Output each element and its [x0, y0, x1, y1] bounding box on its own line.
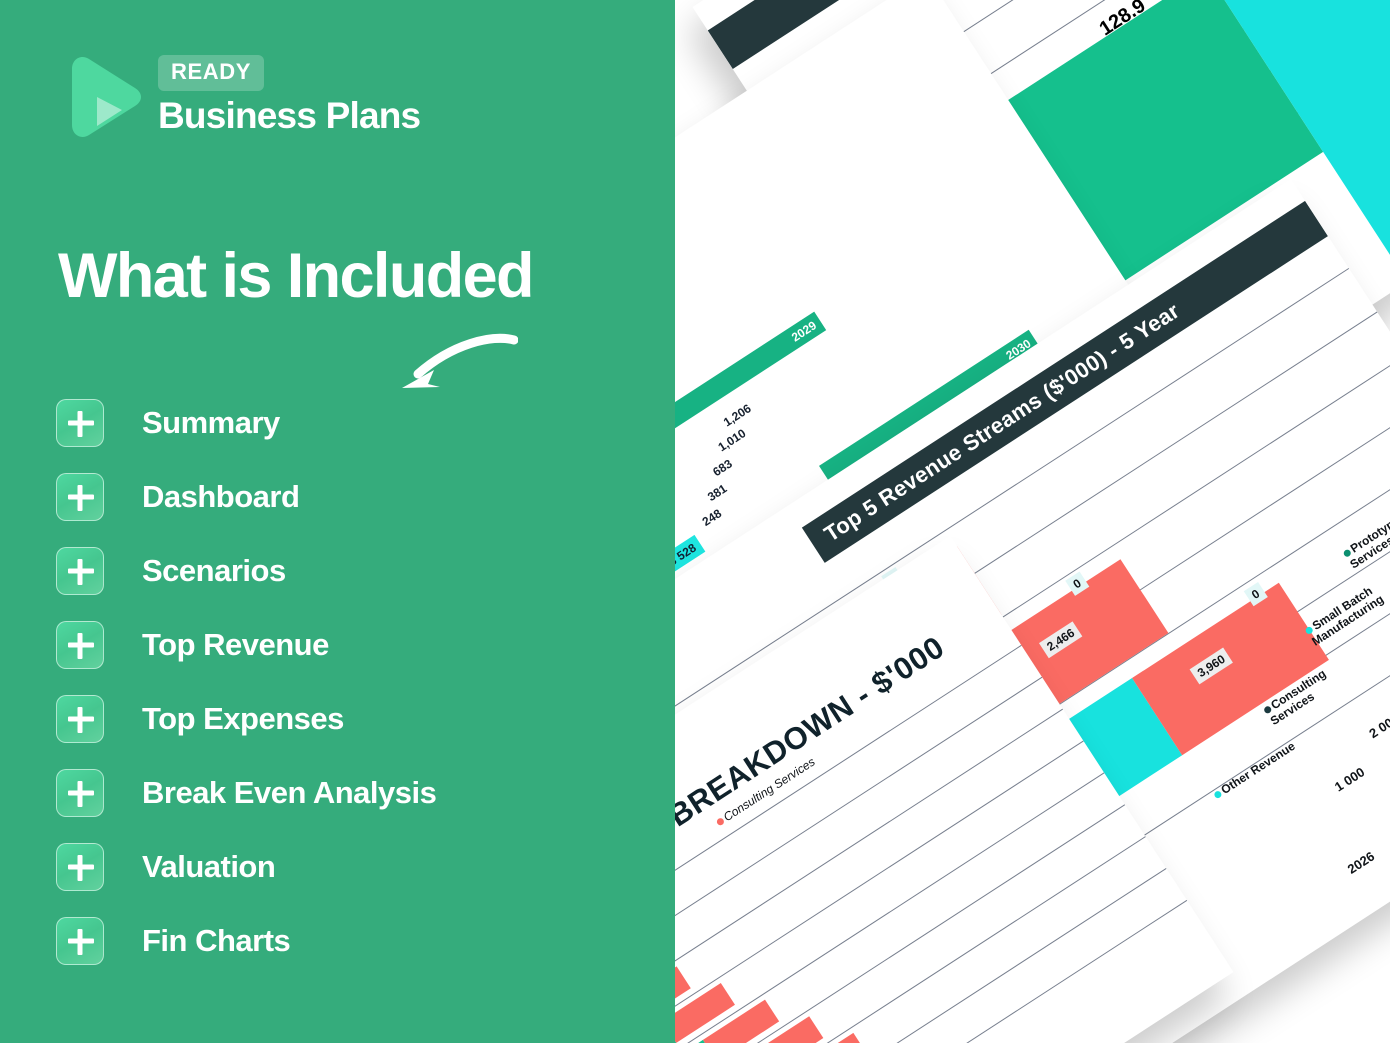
cell-2029-3: 683 [710, 456, 734, 479]
plus-icon[interactable] [56, 695, 104, 743]
list-item-scenarios[interactable]: Scenarios [56, 534, 656, 608]
list-item-break-even-analysis[interactable]: Break Even Analysis [56, 756, 656, 830]
list-item-label: Dashboard [142, 479, 299, 515]
plus-icon[interactable] [56, 473, 104, 521]
list-item-top-expenses[interactable]: Top Expenses [56, 682, 656, 756]
legend-label: Small Batch Manufacturing [1309, 584, 1386, 649]
list-item-label: Top Expenses [142, 701, 344, 737]
legend-prototyping-services: Prototyping Services [1341, 490, 1390, 571]
plus-icon[interactable] [56, 399, 104, 447]
plus-icon[interactable] [56, 769, 104, 817]
list-item-label: Top Revenue [142, 627, 329, 663]
legend-label: Prototyping Services [1347, 507, 1390, 571]
list-item-top-revenue[interactable]: Top Revenue [56, 608, 656, 682]
brand-logo: READY Business Plans [66, 55, 420, 139]
brand-name: Business Plans [158, 95, 420, 137]
curved-arrow-down-left-icon [388, 332, 518, 394]
line-axis-2026: 2026 [1345, 848, 1377, 876]
list-item-valuation[interactable]: Valuation [56, 830, 656, 904]
list-item-label: Valuation [142, 849, 275, 885]
list-item-label: Scenarios [142, 553, 286, 589]
list-item-label: Break Even Analysis [142, 775, 436, 811]
cell-2029-2: 1,010 [716, 426, 749, 454]
legend-label: Other Revenue [1218, 739, 1297, 797]
page-title: What is Included [58, 245, 533, 308]
list-item-label: Fin Charts [142, 923, 290, 959]
cell-2029-5: 248 [700, 506, 724, 529]
plus-icon[interactable] [56, 843, 104, 891]
plus-icon[interactable] [56, 621, 104, 669]
ready-badge: READY [158, 55, 264, 91]
list-item-label: Summary [142, 405, 280, 441]
play-triangle-icon [66, 55, 142, 139]
list-item-dashboard[interactable]: Dashboard [56, 460, 656, 534]
cell-2029-1: 1,206 [721, 401, 754, 429]
list-item-fin-charts[interactable]: Fin Charts [56, 904, 656, 978]
left-green-panel: READY Business Plans What is Included Su… [0, 0, 675, 1043]
list-item-summary[interactable]: Summary [56, 386, 656, 460]
legend-other-revenue: Other Revenue [1211, 731, 1310, 801]
plus-icon[interactable] [56, 917, 104, 965]
axis-value-2000: 2 000 [1366, 711, 1390, 741]
axis-value-1000: 1 000 [1332, 764, 1367, 794]
plus-icon[interactable] [56, 547, 104, 595]
cell-2029-4: 381 [705, 481, 729, 504]
included-list: Summary Dashboard Scenarios Top Revenue … [56, 386, 656, 978]
